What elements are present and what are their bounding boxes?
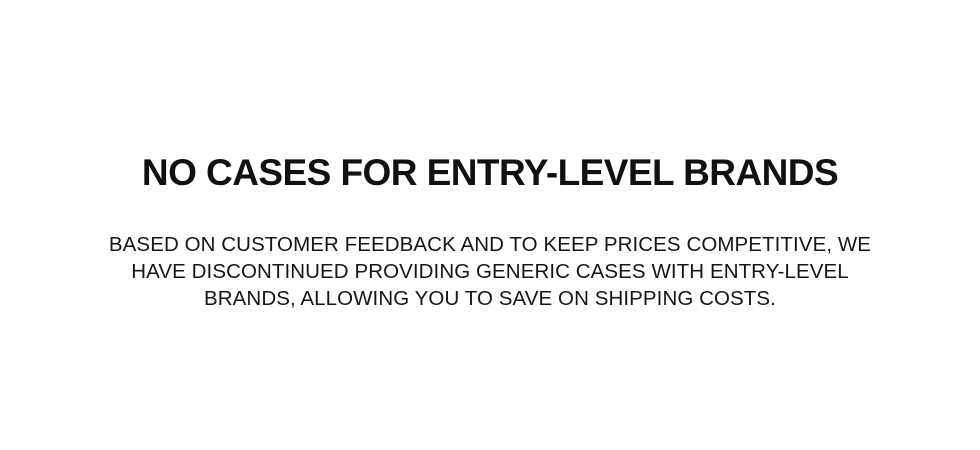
page-title: NO CASES FOR ENTRY-LEVEL BRANDS: [40, 152, 940, 193]
promo-description: BASED ON CUSTOMER FEEDBACK AND TO KEEP P…: [89, 231, 891, 312]
promo-banner: NO CASES FOR ENTRY-LEVEL BRANDS BASED ON…: [0, 0, 980, 450]
